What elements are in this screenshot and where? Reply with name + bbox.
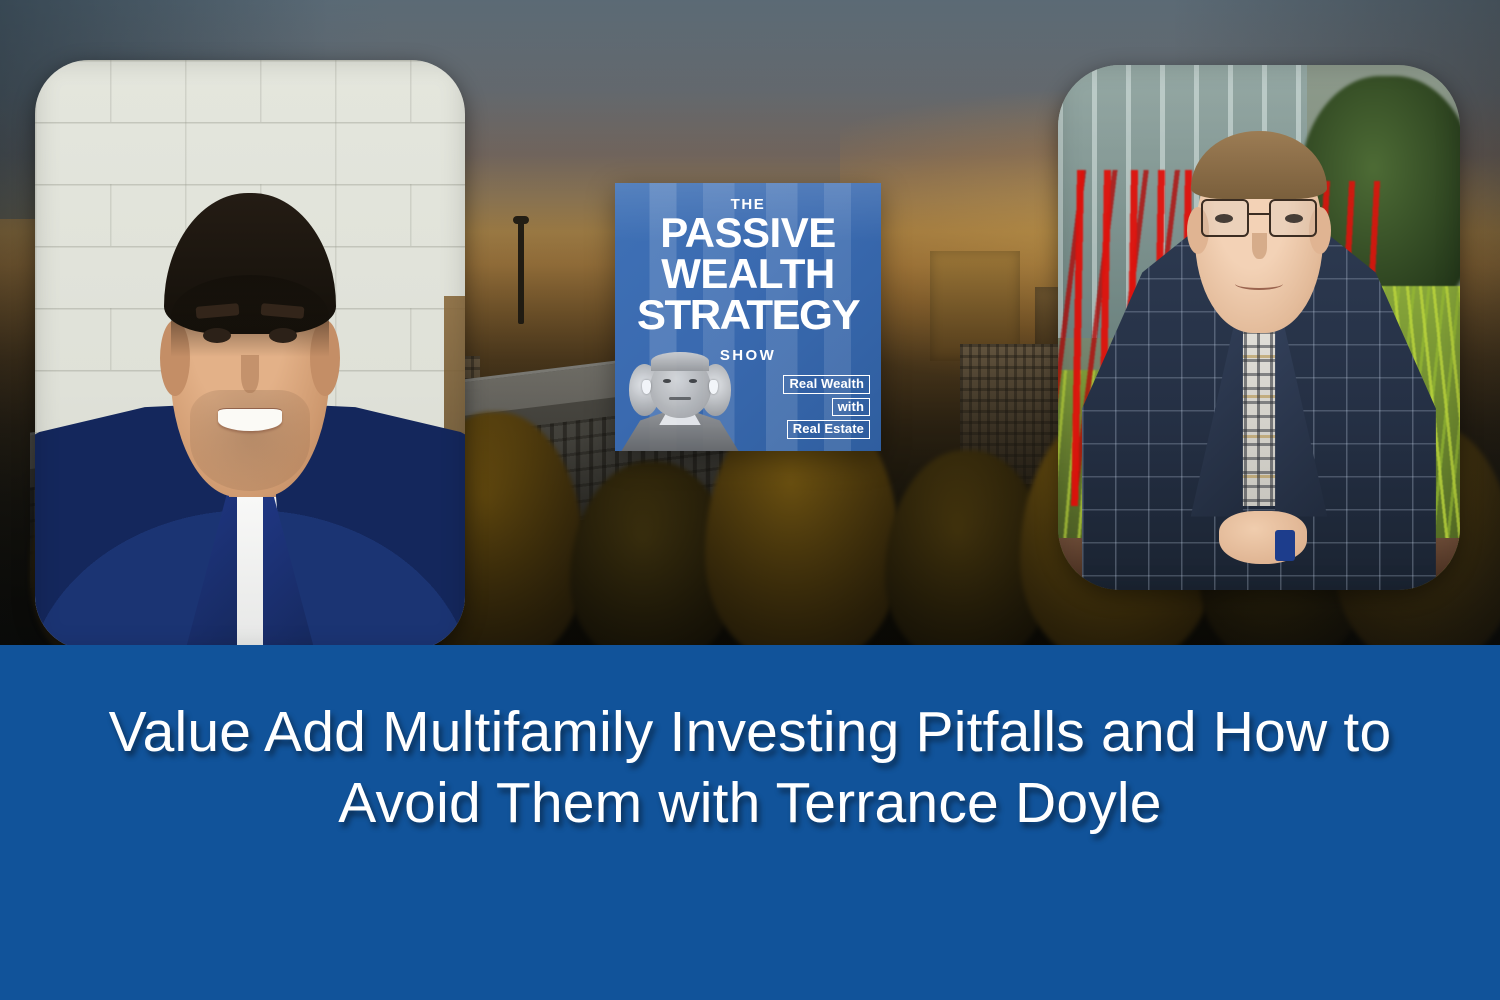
eyeglasses-bridge <box>1249 213 1269 215</box>
episode-cover-card: THE PASSIVE WEALTH STRATEGY SHOW Real We… <box>0 0 1500 1000</box>
guest-headshot-right <box>1058 65 1460 590</box>
franklin-eye <box>689 379 698 383</box>
title-banner: Value Add Multifamily Investing Pitfalls… <box>0 645 1500 1000</box>
tagline-real-wealth: Real Wealth <box>783 375 870 394</box>
nose <box>1252 233 1266 259</box>
podcast-logo[interactable]: THE PASSIVE WEALTH STRATEGY SHOW Real We… <box>615 183 881 451</box>
franklin-eye <box>663 379 672 383</box>
logo-line-strategy: STRATEGY <box>615 294 881 335</box>
episode-title: Value Add Multifamily Investing Pitfalls… <box>55 697 1445 840</box>
franklin-mouth <box>669 397 691 400</box>
smiling-mouth <box>218 409 283 430</box>
franklin-forehead <box>651 352 710 371</box>
logo-line-passive: PASSIVE <box>615 212 881 253</box>
logo-line-wealth: WEALTH <box>615 253 881 294</box>
eyeglasses-lens <box>1201 199 1249 237</box>
eyeglasses-lens <box>1269 199 1317 237</box>
tagline-real-estate: Real Estate <box>787 420 870 439</box>
wristwatch <box>1275 530 1295 562</box>
beard-shadow <box>190 390 310 490</box>
logo-tagline: Real Wealth with Real Estate <box>783 375 870 439</box>
eye <box>203 328 231 343</box>
logo-wordmark: PASSIVE WEALTH STRATEGY <box>615 212 881 335</box>
benjamin-franklin-portrait <box>619 333 741 451</box>
smiling-mouth <box>1235 277 1283 290</box>
nose <box>241 355 258 393</box>
host-headshot-left <box>35 60 465 650</box>
tagline-with: with <box>832 398 870 417</box>
